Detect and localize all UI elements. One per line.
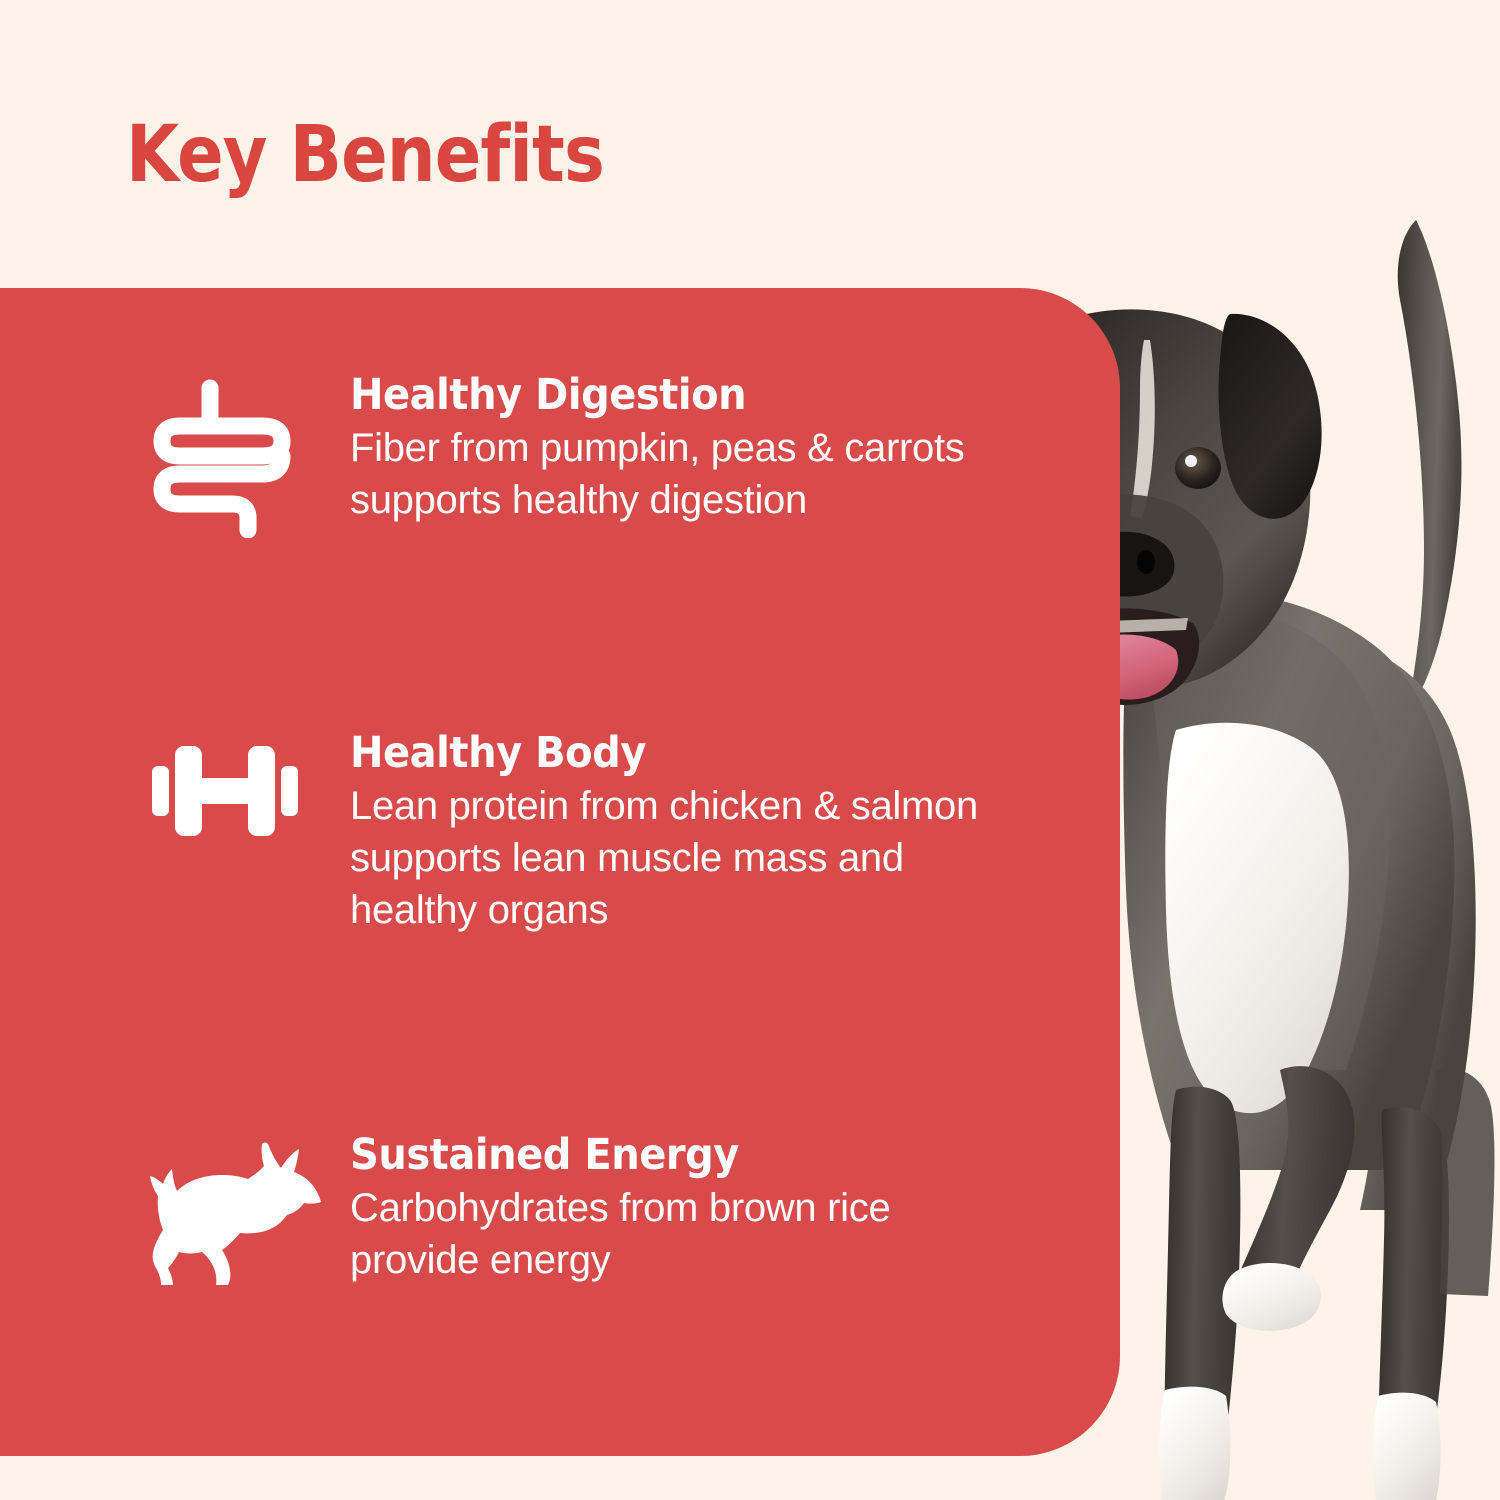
- benefit-text-block: Healthy Digestion Fiber from pumpkin, pe…: [350, 372, 1080, 526]
- dumbbell-icon: [150, 730, 350, 846]
- benefit-item-sustained-energy: Sustained Energy Carbohydrates from brow…: [150, 1132, 1080, 1288]
- benefit-text-block: Sustained Energy Carbohydrates from brow…: [350, 1132, 1080, 1286]
- benefit-heading: Healthy Digestion: [350, 372, 1029, 418]
- benefit-list: Healthy Digestion Fiber from pumpkin, pe…: [0, 0, 1120, 1500]
- benefit-item-healthy-digestion: Healthy Digestion Fiber from pumpkin, pe…: [150, 372, 1080, 538]
- key-benefits-page: Key Benefits Healthy Digestion Fiber fro…: [0, 0, 1500, 1500]
- benefit-body: Fiber from pumpkin, peas & carrots suppo…: [350, 422, 1020, 526]
- benefit-heading: Sustained Energy: [350, 1132, 1029, 1178]
- benefit-heading: Healthy Body: [350, 730, 1029, 776]
- benefit-body: Lean protein from chicken & salmon suppo…: [350, 780, 1020, 936]
- running-dog-icon: [150, 1132, 350, 1288]
- benefit-item-healthy-body: Healthy Body Lean protein from chicken &…: [150, 730, 1080, 936]
- benefit-body: Carbohydrates from brown rice provide en…: [350, 1182, 1020, 1286]
- benefit-text-block: Healthy Body Lean protein from chicken &…: [350, 730, 1080, 936]
- intestine-icon: [150, 372, 350, 538]
